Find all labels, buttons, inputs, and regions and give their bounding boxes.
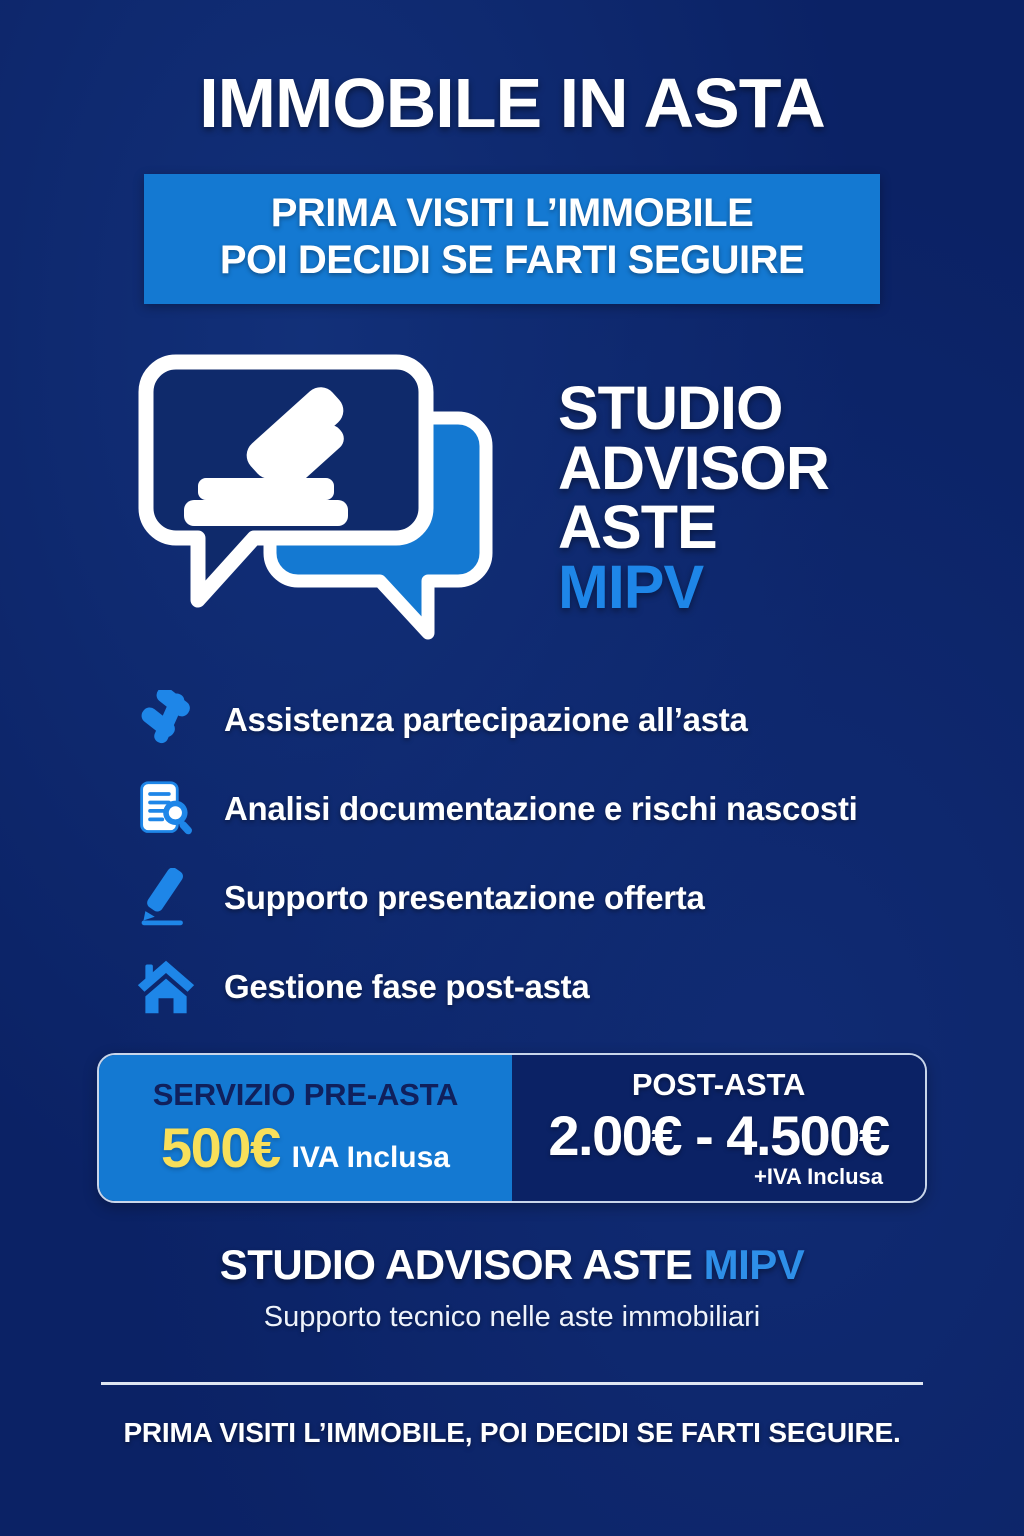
document-search-icon (134, 777, 198, 841)
logo-line-1: STUDIO (558, 379, 829, 439)
feature-label: Gestione fase post-asta (224, 968, 589, 1006)
price-card-pre-asta: SERVIZIO PRE-ASTA 500€ IVA Inclusa (99, 1055, 512, 1201)
feature-item: Assistenza partecipazione all’asta (134, 688, 912, 752)
price-heading: POST-ASTA (632, 1067, 805, 1103)
feature-item: Supporto presentazione offerta (134, 866, 912, 930)
speech-bubble-gavel-logo (128, 348, 528, 648)
feature-label: Assistenza partecipazione all’asta (224, 701, 748, 739)
pen-icon (134, 866, 198, 930)
logo-accent-mipv: MIPV (558, 558, 829, 618)
headline-banner: PRIMA VISITI L’IMMOBILE POI DECIDI SE FA… (144, 174, 880, 304)
gavel-icon (134, 688, 198, 752)
footer-brand: STUDIO ADVISOR ASTE MIPV (0, 1241, 1024, 1289)
price-row: 500€ IVA Inclusa (161, 1115, 450, 1180)
pricing-panel: SERVIZIO PRE-ASTA 500€ IVA Inclusa POST-… (97, 1053, 927, 1203)
footer-divider (101, 1382, 923, 1385)
feature-list: Assistenza partecipazione all’asta (112, 688, 912, 1019)
page-title: IMMOBILE IN ASTA (199, 68, 825, 138)
logo-text: STUDIO ADVISOR ASTE MIPV (558, 379, 829, 618)
footer: STUDIO ADVISOR ASTE MIPV Supporto tecnic… (0, 1241, 1024, 1449)
logo-line-2: ADVISOR (558, 439, 829, 499)
feature-label: Supporto presentazione offerta (224, 879, 705, 917)
price-note: +IVA Inclusa (754, 1164, 883, 1190)
feature-label: Analisi documentazione e rischi nascosti (224, 790, 858, 828)
banner-line-2: POI DECIDI SE FARTI SEGUIRE (154, 237, 870, 284)
poster-root: IMMOBILE IN ASTA PRIMA VISITI L’IMMOBILE… (0, 0, 1024, 1536)
footer-brand-accent: MIPV (704, 1241, 805, 1288)
feature-item: Analisi documentazione e rischi nascosti (134, 777, 912, 841)
price-amount: 2.00€ - 4.500€ (548, 1103, 888, 1168)
bottom-slogan: PRIMA VISITI L’IMMOBILE, POI DECIDI SE F… (0, 1417, 1024, 1449)
banner-line-1: PRIMA VISITI L’IMMOBILE (154, 190, 870, 237)
footer-brand-main: STUDIO ADVISOR ASTE (220, 1241, 704, 1288)
price-heading: SERVIZIO PRE-ASTA (153, 1077, 459, 1113)
price-card-post-asta: POST-ASTA 2.00€ - 4.500€ +IVA Inclusa (512, 1055, 925, 1201)
logo-block: STUDIO ADVISOR ASTE MIPV (116, 348, 908, 648)
logo-line-3: ASTE (558, 498, 829, 558)
price-note: IVA Inclusa (292, 1141, 450, 1175)
feature-item: Gestione fase post-asta (134, 955, 912, 1019)
house-icon (134, 955, 198, 1019)
price-amount: 500€ (161, 1115, 280, 1180)
footer-tagline: Supporto tecnico nelle aste immobiliari (0, 1301, 1024, 1334)
